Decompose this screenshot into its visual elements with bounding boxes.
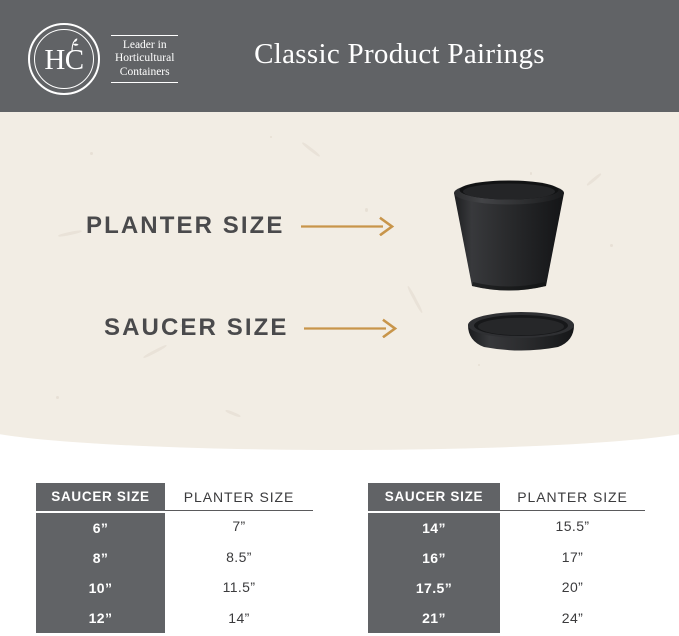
- arrow-right-icon: [301, 216, 395, 236]
- saucer-dish-image: [466, 310, 576, 354]
- table-cell-planter: 7”: [165, 511, 313, 542]
- table-cell-planter: 14”: [165, 603, 313, 634]
- table-cell-planter: 24”: [500, 603, 645, 634]
- planter-size-column: PLANTER SIZE 7” 8.5” 11.5” 14”: [165, 483, 313, 633]
- table-cell-saucer: 8”: [36, 543, 165, 573]
- column-header-planter-size: PLANTER SIZE: [500, 483, 645, 511]
- table-cell-saucer: 21”: [368, 603, 500, 633]
- arrow-right-icon: [304, 318, 398, 338]
- page-title: Classic Product Pairings: [0, 38, 679, 71]
- table-cell-planter: 8.5”: [165, 542, 313, 573]
- callout-saucer-size: SAUCER SIZE: [104, 314, 398, 342]
- table-cell-saucer: 12”: [36, 603, 165, 633]
- callout-planter-label: PLANTER SIZE: [86, 212, 285, 240]
- saucer-size-column: SAUCER SIZE 14” 16” 17.5” 21”: [368, 483, 500, 633]
- column-header-planter-size: PLANTER SIZE: [165, 483, 313, 511]
- table-cell-saucer: 10”: [36, 573, 165, 603]
- table-cell-planter: 11.5”: [165, 572, 313, 603]
- callout-saucer-label: SAUCER SIZE: [104, 314, 288, 342]
- table-cell-planter: 17”: [500, 542, 645, 573]
- planter-size-column: PLANTER SIZE 15.5” 17” 20” 24”: [500, 483, 645, 633]
- saucer-size-column: SAUCER SIZE 6” 8” 10” 12”: [36, 483, 165, 633]
- table-cell-saucer: 17.5”: [368, 573, 500, 603]
- size-chart-table-right: SAUCER SIZE 14” 16” 17.5” 21” PLANTER SI…: [368, 483, 645, 633]
- callout-planter-size: PLANTER SIZE: [86, 212, 395, 240]
- table-cell-planter: 15.5”: [500, 511, 645, 542]
- size-chart-table-left: SAUCER SIZE 6” 8” 10” 12” PLANTER SIZE 7…: [36, 483, 313, 633]
- table-cell-planter: 20”: [500, 572, 645, 603]
- hero-panel: [0, 112, 679, 450]
- column-header-saucer-size: SAUCER SIZE: [368, 483, 500, 513]
- column-header-saucer-size: SAUCER SIZE: [36, 483, 165, 513]
- table-cell-saucer: 6”: [36, 513, 165, 543]
- page-header: HC Leader in Horticultural Containers Cl…: [0, 0, 679, 112]
- table-cell-saucer: 14”: [368, 513, 500, 543]
- planter-pot-image: [443, 174, 575, 296]
- table-cell-saucer: 16”: [368, 543, 500, 573]
